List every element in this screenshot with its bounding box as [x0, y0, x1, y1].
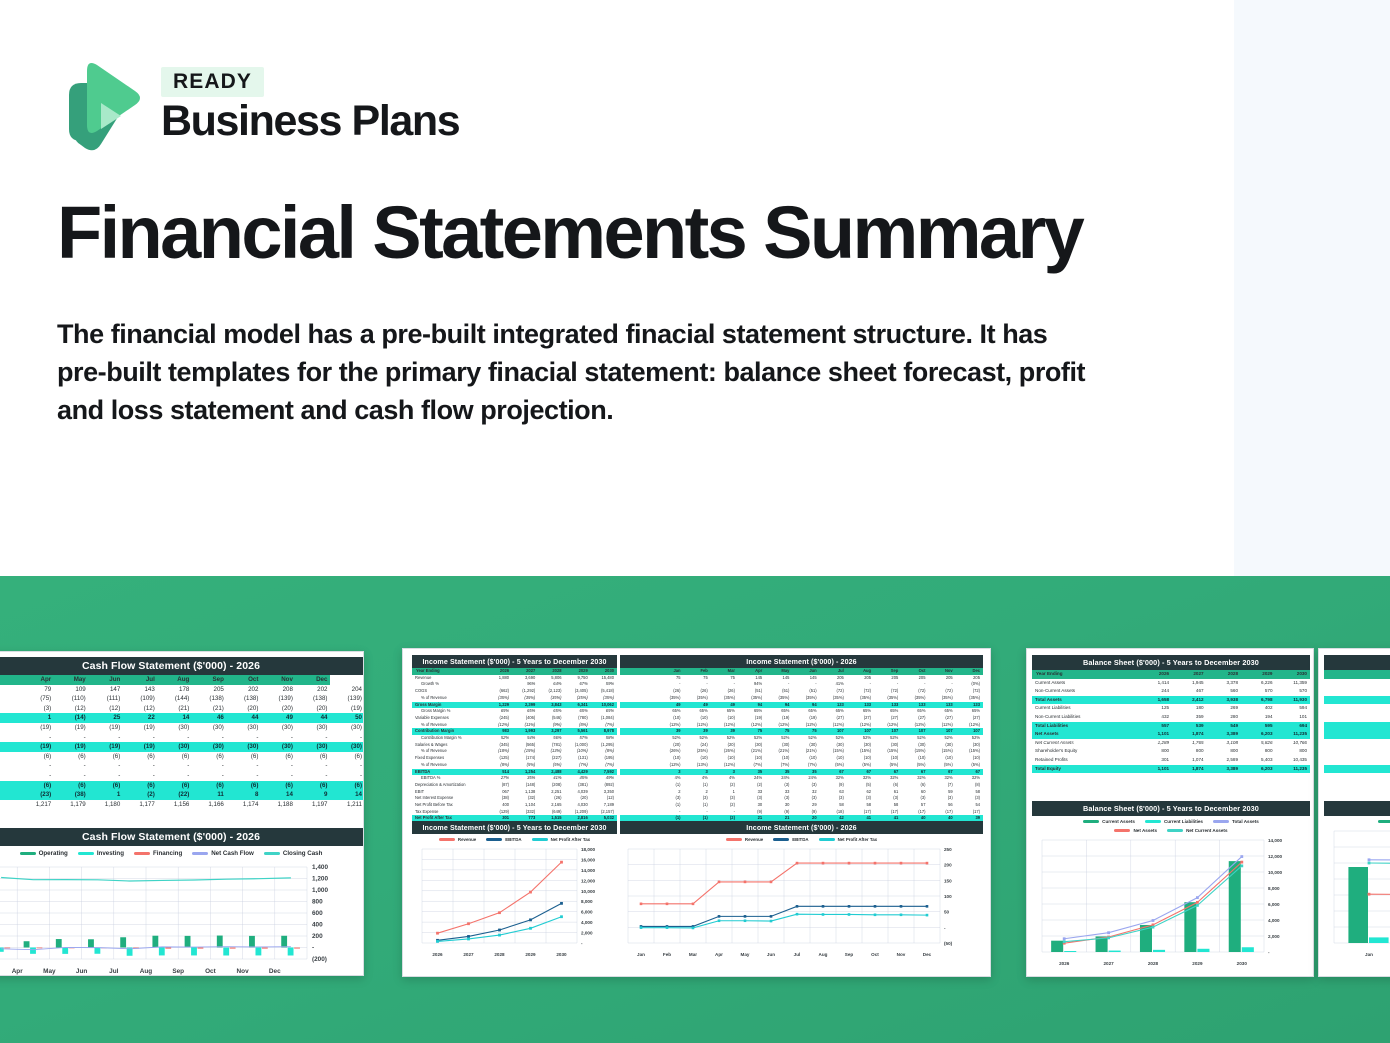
- table-cell: 1,945: [1172, 679, 1206, 688]
- table-cell: 125: [1138, 704, 1172, 713]
- table-cell: 549: [1207, 722, 1241, 731]
- table-cell: (6): [123, 781, 158, 791]
- row-label: [0, 704, 20, 714]
- svg-text:2026: 2026: [1059, 961, 1070, 966]
- table-cell: (30): [330, 723, 364, 733]
- table-cell: -: [765, 681, 792, 688]
- screenshot-cash-flow[interactable]: Cash Flow Statement ($'000) - 2026 AprMa…: [0, 651, 364, 976]
- table-cell: (0%): [956, 681, 983, 688]
- row-label: [0, 781, 20, 791]
- table-cell: (3): [928, 795, 955, 802]
- table-cell: 65%: [765, 708, 792, 715]
- table-cell: (6): [330, 752, 364, 762]
- table-row: % of Revenue(35%)(35%)(35%)(35%)(35%): [412, 695, 617, 702]
- table-cell: (18%): [486, 748, 512, 755]
- legend-item: EBITDA: [486, 837, 521, 842]
- table-cell: 244: [1138, 687, 1172, 696]
- table-cell: (35%): [792, 695, 819, 702]
- row-label: EBITDA: [412, 769, 486, 776]
- table-cell: (17): [901, 809, 928, 816]
- legend-swatch-icon: [1145, 820, 1161, 823]
- table-cell: 2,251: [538, 789, 564, 796]
- column-header: Feb: [684, 668, 711, 675]
- table-cell: (2): [711, 802, 738, 809]
- table-cell: 49: [684, 702, 711, 709]
- svg-text:Sep: Sep: [172, 968, 184, 975]
- table-cell: (72): [901, 688, 928, 695]
- table-cell: 145: [792, 675, 819, 682]
- table-cell: 65%: [684, 708, 711, 715]
- table-cell: -: [89, 761, 124, 771]
- row-label: [0, 761, 20, 771]
- table-cell: 799: [1334, 765, 1390, 774]
- table-row: 1836: [1324, 687, 1390, 696]
- table-cell: (13%): [538, 748, 564, 755]
- table-cell: 2: [656, 789, 683, 796]
- legend-label: Closing Cash: [283, 850, 323, 857]
- legend-label: Operating: [39, 850, 68, 857]
- table-cell: (20): [261, 704, 296, 714]
- table-cell: (125): [486, 755, 512, 762]
- column-header: 2029: [565, 668, 591, 675]
- table-cell: (1): [1334, 756, 1390, 765]
- table-cell: 32%: [928, 775, 955, 782]
- table-cell: 35: [765, 769, 792, 776]
- table-cell: 8: [227, 790, 262, 800]
- income-monthly-chart-legend: RevenueEBITDANet Profit After Tax: [620, 834, 983, 843]
- svg-text:600: 600: [312, 910, 323, 917]
- table-cell: 983: [486, 728, 512, 735]
- row-label: [620, 715, 656, 722]
- table-cell: 432: [1138, 713, 1172, 722]
- table-cell: 96%: [512, 681, 538, 688]
- svg-text:Jan: Jan: [637, 952, 645, 957]
- table-cell: (565): [512, 742, 538, 749]
- table-cell: 52%: [738, 735, 765, 742]
- svg-text:-: -: [944, 925, 946, 930]
- legend-label: EBITDA: [505, 837, 521, 842]
- screenshot-balance-monthly[interactable]: JanFeb 1,3411,32318361,3591,359657249548…: [1318, 648, 1390, 977]
- table-cell: 15,480: [591, 675, 617, 682]
- table-cell: (30): [792, 742, 819, 749]
- row-label: COGS: [412, 688, 486, 695]
- table-cell: (19): [330, 704, 364, 714]
- table-cell: 147: [89, 685, 124, 695]
- table-cell: (19): [123, 723, 158, 733]
- table-cell: 56: [928, 802, 955, 809]
- table-cell: -: [330, 771, 364, 781]
- table-row: Depreciation & Amortization(87)(148)(208…: [412, 782, 617, 789]
- row-label: [620, 789, 656, 796]
- table-cell: (51): [792, 688, 819, 695]
- table-cell: (9): [765, 809, 792, 816]
- column-header: Dec: [296, 675, 331, 685]
- table-cell: 205: [901, 675, 928, 682]
- table-cell: 52%: [820, 735, 847, 742]
- svg-text:Oct: Oct: [871, 952, 879, 957]
- svg-text:Apr: Apr: [12, 968, 24, 975]
- table-cell: (892): [591, 782, 617, 789]
- legend-item: Current Assets: [1378, 819, 1390, 824]
- row-label: % of Revenue: [412, 762, 486, 769]
- table-cell: (3): [711, 795, 738, 802]
- table-cell: 2,589: [1207, 756, 1241, 765]
- column-header: 2028: [538, 668, 564, 675]
- table-cell: (72): [956, 688, 983, 695]
- table-cell: 1,174: [227, 800, 262, 810]
- table-cell: (662): [486, 688, 512, 695]
- table-cell: 65%: [656, 708, 683, 715]
- legend-label: Net Assets: [1133, 828, 1157, 833]
- table-cell: 800: [1334, 747, 1390, 756]
- table-cell: -: [296, 733, 331, 743]
- table-cell: 44: [227, 713, 262, 723]
- legend-item: Financing: [134, 850, 182, 857]
- svg-text:Aug: Aug: [140, 968, 153, 975]
- table-row: Total Liabilities557539549595694: [1032, 722, 1310, 731]
- income-5yr-table-pane: Income Statement ($'000) - 5 Years to De…: [412, 655, 617, 829]
- table-cell: (30): [261, 742, 296, 752]
- svg-text:2029: 2029: [1192, 961, 1203, 966]
- table-cell: 6,203: [1241, 765, 1275, 774]
- balance-5yr-table-title: Balance Sheet ($'000) - 5 Years to Decem…: [1032, 655, 1310, 670]
- table-row: ---(9)(9)(9)(18)(17)(17)(17)(17)(17): [620, 809, 983, 816]
- legend-item: Current Assets: [1083, 819, 1135, 824]
- legend-item: Revenue: [439, 837, 476, 842]
- table-cell: -: [874, 681, 901, 688]
- row-label: [620, 795, 656, 802]
- table-cell: (30): [192, 742, 227, 752]
- table-cell: 301: [1138, 756, 1172, 765]
- table-row: (1)(2): [1324, 756, 1390, 765]
- svg-text:Nov: Nov: [897, 952, 906, 957]
- table-cell: (12%): [765, 722, 792, 729]
- table-cell: 3,389: [1207, 730, 1241, 739]
- column-header: 2028: [1207, 670, 1241, 679]
- table-cell: 208: [261, 685, 296, 695]
- table-cell: (30): [227, 723, 262, 733]
- table-cell: (30): [296, 742, 331, 752]
- table-cell: (3): [20, 704, 55, 714]
- table-cell: 35: [738, 769, 765, 776]
- cash-flow-plot: 1,4001,2001,000800600400200-(200)AprMayJ…: [0, 859, 364, 976]
- table-cell: 58%: [591, 735, 617, 742]
- table-cell: (10): [656, 755, 683, 762]
- income-monthly-table-pane: Income Statement ($'000) - 2026 JanFebMa…: [620, 655, 983, 829]
- table-row: Retained Profits3011,0742,5895,40310,435: [1032, 756, 1310, 765]
- table-row: Non-Current Liabilities432359280194101: [1032, 713, 1310, 722]
- row-label: [620, 782, 656, 789]
- table-row: (75)(110)(111)(109)(144)(138)(138)(139)(…: [0, 694, 364, 704]
- table-cell: 1: [89, 790, 124, 800]
- table-cell: (35%): [512, 695, 538, 702]
- table-cell: (19): [54, 723, 89, 733]
- table-cell: (5,418): [591, 688, 617, 695]
- table-cell: 32%: [956, 775, 983, 782]
- svg-text:200: 200: [312, 933, 323, 940]
- table-cell: -: [296, 771, 331, 781]
- table-cell: 65%: [711, 708, 738, 715]
- row-label: EBIT: [412, 789, 486, 796]
- table-cell: -: [123, 771, 158, 781]
- table-row: Current Liabilities125180269402594: [1032, 704, 1310, 713]
- table-cell: 133: [928, 702, 955, 709]
- table-cell: 65%: [565, 708, 591, 715]
- table-row: Revenue1,8803,6905,8069,75015,480: [412, 675, 617, 682]
- table-row: 495489: [1324, 713, 1390, 722]
- table-cell: -: [123, 761, 158, 771]
- table-cell: -: [684, 809, 711, 816]
- row-label: Variable Expenses: [412, 715, 486, 722]
- table-cell: (27): [901, 715, 928, 722]
- table-cell: 58: [847, 802, 874, 809]
- table-row: 4%4%4%24%24%24%32%32%32%32%32%32%: [620, 775, 983, 782]
- table-cell: 1,765: [1172, 739, 1206, 748]
- table-cell: (1): [684, 782, 711, 789]
- table-cell: -: [227, 761, 262, 771]
- table-cell: 1,156: [158, 800, 193, 810]
- table-cell: (35%): [928, 695, 955, 702]
- table-cell: (35%): [874, 695, 901, 702]
- table-cell: 4,030: [565, 802, 591, 809]
- row-label: [620, 762, 656, 769]
- table-cell: (10): [684, 755, 711, 762]
- table-cell: (19): [738, 715, 765, 722]
- table-cell: (6): [901, 782, 928, 789]
- row-label: [620, 809, 656, 816]
- table-cell: 25: [89, 713, 124, 723]
- table-cell: (1,000): [565, 742, 591, 749]
- table-cell: (129): [486, 809, 512, 816]
- cash-flow-table: AprMayJunJulAugSepOctNovDec 791091471431…: [0, 675, 364, 809]
- table-cell: (6): [89, 752, 124, 762]
- table-cell: (5%): [512, 762, 538, 769]
- row-label: [0, 771, 20, 781]
- legend-item: EBITDA: [773, 837, 808, 842]
- table-cell: (8%): [486, 762, 512, 769]
- table-cell: 1,197: [296, 800, 331, 810]
- table-cell: 6,341: [565, 702, 591, 709]
- screenshot-balance-sheet[interactable]: Balance Sheet ($'000) - 5 Years to Decem…: [1026, 648, 1314, 977]
- table-cell: 133: [874, 702, 901, 709]
- svg-text:14,000: 14,000: [581, 868, 595, 873]
- table-cell: -: [158, 761, 193, 771]
- table-cell: (6): [330, 781, 364, 791]
- table-cell: (15%): [928, 748, 955, 755]
- table-cell: (27): [820, 715, 847, 722]
- table-cell: (30): [874, 742, 901, 749]
- table-cell: 205: [847, 675, 874, 682]
- table-cell: 10,766: [1276, 739, 1311, 748]
- brand-wordmark: READY Business Plans: [161, 67, 459, 144]
- table-cell: 46: [192, 713, 227, 723]
- table-cell: 75: [656, 675, 683, 682]
- table-cell: 11,235: [1276, 730, 1311, 739]
- income-5yr-chart-title: Income Statement ($'000) - 5 Years to De…: [412, 821, 617, 834]
- table-cell: (38): [54, 790, 89, 800]
- balance-monthly-table-title: [1324, 655, 1390, 670]
- table-row: 799798: [1324, 730, 1390, 739]
- legend-item: Net Current Assets: [1167, 828, 1227, 833]
- table-row: 333353535676767676767: [620, 769, 983, 776]
- row-label: [1324, 679, 1334, 688]
- table-cell: 2,412: [1172, 696, 1206, 705]
- table-cell: 4%: [684, 775, 711, 782]
- svg-text:6,000: 6,000: [1268, 902, 1280, 907]
- table-cell: 60: [901, 789, 928, 796]
- table-cell: (6): [874, 782, 901, 789]
- row-label: Non-Current Assets: [1032, 687, 1138, 696]
- table-cell: 65%: [901, 708, 928, 715]
- table-row: Salaries & Wages(345)(565)(781)(1,000)(1…: [412, 742, 617, 749]
- table-cell: (27): [847, 715, 874, 722]
- table-cell: (30): [158, 723, 193, 733]
- table-cell: 6,226: [1241, 679, 1275, 688]
- table-cell: 107: [956, 728, 983, 735]
- page-title: Financial Statements Summary: [57, 196, 1082, 270]
- table-row: Net Interest Expense(38)(32)(26)(20)(12): [412, 795, 617, 802]
- table-cell: 65%: [591, 708, 617, 715]
- table-cell: 1,138: [512, 789, 538, 796]
- table-cell: (10): [656, 715, 683, 722]
- table-cell: (245): [486, 715, 512, 722]
- table-cell: 62: [847, 789, 874, 796]
- table-cell: (3): [901, 795, 928, 802]
- table-cell: 133: [847, 702, 874, 709]
- table-cell: 22: [123, 713, 158, 723]
- table-cell: (144): [158, 694, 193, 704]
- legend-swatch-icon: [192, 852, 208, 855]
- table-cell: (12): [591, 795, 617, 802]
- table-cell: 1,341: [1334, 679, 1390, 688]
- row-label: Gross Margin: [412, 702, 486, 709]
- table-header-row: AprMayJunJulAugSepOctNovDec: [0, 675, 364, 685]
- screenshot-income-statements[interactable]: Income Statement ($'000) - 5 Years to De…: [402, 648, 991, 977]
- table-cell: 27%: [486, 775, 512, 782]
- legend-swatch-icon: [726, 838, 742, 841]
- table-cell: -: [656, 681, 683, 688]
- legend-swatch-icon: [486, 838, 502, 841]
- table-row: ----------: [0, 771, 364, 781]
- table-cell: 800: [1276, 747, 1311, 756]
- table-cell: 2: [684, 789, 711, 796]
- table-cell: (12%): [956, 722, 983, 729]
- table-cell: (35%): [656, 695, 683, 702]
- table-cell: 799: [1334, 730, 1390, 739]
- table-cell: (23): [20, 790, 55, 800]
- table-cell: (17): [928, 809, 955, 816]
- table-cell: 32%: [820, 775, 847, 782]
- table-cell: 1,177: [123, 800, 158, 810]
- table-cell: 694: [1276, 722, 1311, 731]
- table-cell: 1,101: [1138, 730, 1172, 739]
- table-cell: 3,297: [538, 728, 564, 735]
- table-cell: (10): [847, 755, 874, 762]
- svg-text:-: -: [581, 941, 583, 946]
- table-cell: (3): [847, 795, 874, 802]
- table-cell: (546): [538, 715, 564, 722]
- balance-monthly-plot: JanFeb: [1324, 825, 1390, 973]
- table-cell: (10): [928, 755, 955, 762]
- table-cell: (3,405): [565, 688, 591, 695]
- table-row: (1)(1)(2)303029585858575654: [620, 802, 983, 809]
- table-cell: (6): [261, 781, 296, 791]
- table-cell: 800: [1138, 747, 1172, 756]
- table-cell: (21%): [792, 748, 819, 755]
- legend-label: Revenue: [745, 837, 763, 842]
- table-cell: 65: [1334, 704, 1390, 713]
- table-cell: (1): [656, 782, 683, 789]
- table-cell: 1,874: [1172, 765, 1206, 774]
- legend-swatch-icon: [819, 838, 835, 841]
- income-5yr-chart-pane: Income Statement ($'000) - 5 Years to De…: [412, 821, 617, 973]
- table-cell: 14: [330, 790, 364, 800]
- table-row: % of Revenue(12%)(11%)(9%)(8%)(7%): [412, 722, 617, 729]
- row-label: Shareholder's Equity: [1032, 747, 1138, 756]
- table-cell: 94: [765, 702, 792, 709]
- table-cell: 1,993: [512, 728, 538, 735]
- row-label: [1324, 722, 1334, 731]
- table-cell: (51): [738, 688, 765, 695]
- column-header: Aug: [158, 675, 193, 685]
- table-cell: 11,359: [1276, 679, 1311, 688]
- row-label: [620, 735, 656, 742]
- table-cell: 1,179: [54, 800, 89, 810]
- legend-swatch-icon: [1378, 820, 1390, 823]
- table-cell: 560: [1207, 687, 1241, 696]
- row-label: [620, 802, 656, 809]
- table-cell: -: [330, 733, 364, 743]
- table-cell: (10): [684, 715, 711, 722]
- column-header: 2030: [1276, 670, 1311, 679]
- table-row: (26)(26)(26)(51)(51)(51)(72)(72)(72)(72)…: [620, 688, 983, 695]
- table-cell: (12%): [711, 722, 738, 729]
- row-label: [620, 742, 656, 749]
- balance-monthly-chart-title: [1324, 801, 1390, 816]
- table-cell: 65%: [928, 708, 955, 715]
- table-cell: (345): [486, 742, 512, 749]
- table-cell: 1: [20, 713, 55, 723]
- table-cell: 4%: [711, 775, 738, 782]
- table-row: ---94%--41%----(0%): [620, 681, 983, 688]
- svg-text:12,000: 12,000: [581, 878, 595, 883]
- svg-text:200: 200: [944, 863, 952, 868]
- svg-text:1,400: 1,400: [312, 864, 328, 871]
- table-row: (19)(19)(19)(19)(30)(30)(30)(30)(30)(30): [0, 742, 364, 752]
- table-row: Current Assets1,4141,9453,3786,22611,359: [1032, 679, 1310, 688]
- table-row: Gross Margin %65%65%65%65%65%: [412, 708, 617, 715]
- table-cell: (6): [158, 752, 193, 762]
- row-label: Current Assets: [1032, 679, 1138, 688]
- row-label: [1324, 747, 1334, 756]
- legend-swatch-icon: [264, 852, 280, 855]
- row-label: [0, 694, 20, 704]
- table-cell: (3): [684, 795, 711, 802]
- legend-swatch-icon: [1213, 820, 1229, 823]
- table-cell: (5): [847, 782, 874, 789]
- svg-text:Aug: Aug: [819, 952, 828, 957]
- table-cell: 3: [656, 769, 683, 776]
- row-label: Revenue: [412, 675, 486, 682]
- balance-monthly-table: JanFeb 1,3411,32318361,3591,359657249548…: [1324, 670, 1390, 773]
- table-header-row: JanFebMarAprMayJunJulAugSepOctNovDec: [620, 668, 983, 675]
- table-cell: (332): [512, 809, 538, 816]
- table-cell: 49%: [591, 775, 617, 782]
- column-header: Sep: [192, 675, 227, 685]
- table-cell: (30): [330, 742, 364, 752]
- table-cell: (7%): [738, 762, 765, 769]
- table-cell: (30): [227, 742, 262, 752]
